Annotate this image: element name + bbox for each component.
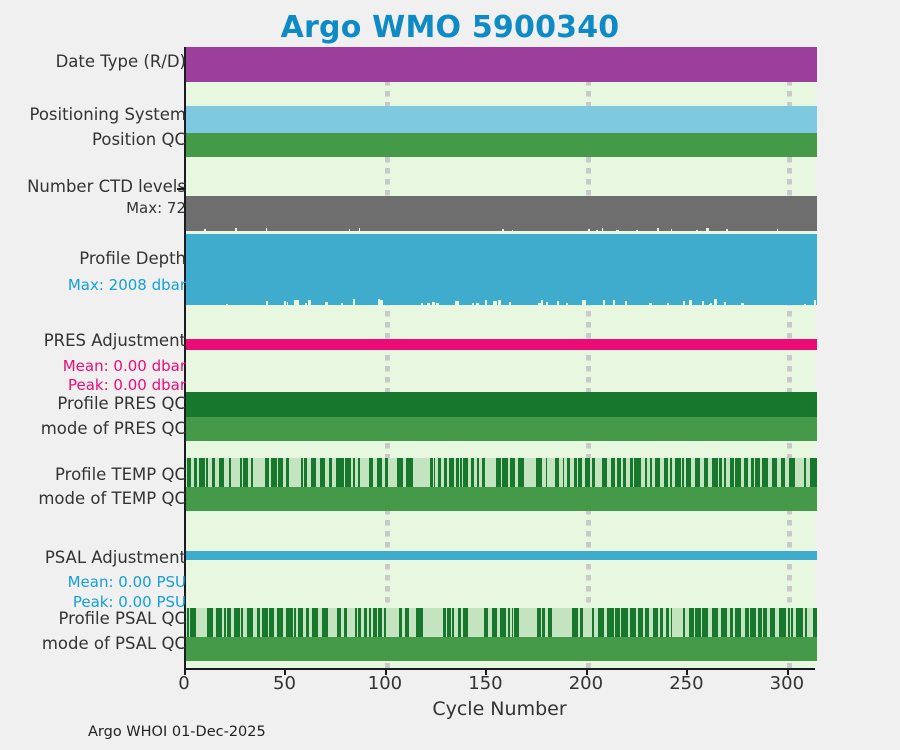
qc-stripe bbox=[227, 608, 231, 637]
qc-stripe bbox=[358, 608, 360, 637]
qc-stripe bbox=[438, 458, 442, 487]
qc-stripe bbox=[277, 608, 284, 637]
qc-stripe bbox=[502, 458, 508, 487]
qc-stripe bbox=[670, 458, 672, 487]
qc-stripe bbox=[190, 608, 196, 637]
depth-notch bbox=[582, 300, 586, 305]
qc-stripe bbox=[683, 608, 685, 637]
row-label-position-qc: Position QC bbox=[92, 130, 186, 149]
depth-notch bbox=[538, 303, 541, 305]
qc-stripe bbox=[345, 458, 351, 487]
qc-stripe bbox=[240, 458, 242, 487]
qc-stripe bbox=[542, 608, 545, 637]
ctd-notch bbox=[657, 228, 659, 231]
row-label-positioning-system: Positioning System bbox=[29, 105, 186, 124]
qc-stripe bbox=[730, 458, 734, 487]
band-psal-adjustment bbox=[186, 551, 817, 560]
qc-stripe bbox=[385, 458, 388, 487]
qc-stripe bbox=[243, 458, 247, 487]
qc-stripe bbox=[251, 458, 253, 487]
depth-notch bbox=[566, 303, 568, 305]
depth-notch bbox=[287, 302, 289, 305]
row-label-profile-pres-qc: Profile PRES QC bbox=[57, 394, 186, 413]
band-positioning-system bbox=[186, 106, 817, 133]
qc-stripe bbox=[496, 458, 501, 487]
qc-stripe bbox=[664, 458, 668, 487]
qc-stripe bbox=[598, 608, 605, 637]
ctd-notch bbox=[502, 229, 504, 231]
qc-stripe bbox=[813, 608, 817, 637]
qc-stripe bbox=[257, 608, 261, 637]
ctd-notch bbox=[706, 228, 709, 231]
qc-stripe bbox=[298, 608, 303, 637]
depth-notch bbox=[284, 301, 286, 305]
x-tick-label-50: 50 bbox=[273, 673, 296, 694]
qc-stripe bbox=[602, 458, 607, 487]
x-tick-label-150: 150 bbox=[468, 673, 502, 694]
qc-stripe bbox=[796, 608, 803, 637]
x-tick-mark-50 bbox=[284, 668, 286, 675]
row-label-pres-adjustment: PRES Adjustment bbox=[44, 331, 186, 350]
qc-stripe bbox=[355, 608, 357, 637]
ctd-notch bbox=[671, 229, 672, 231]
qc-stripe bbox=[207, 608, 213, 637]
qc-stripe bbox=[187, 608, 189, 637]
qc-stripe bbox=[449, 458, 453, 487]
x-tick-mark-200 bbox=[586, 668, 588, 675]
row-label-number-ctd-levels: Number CTD levels bbox=[27, 177, 186, 196]
depth-notch bbox=[294, 300, 296, 305]
depth-notch bbox=[546, 302, 548, 305]
qc-stripe bbox=[645, 458, 647, 487]
x-tick-mark-300 bbox=[787, 668, 789, 675]
qc-stripe bbox=[812, 458, 817, 487]
qc-stripe bbox=[630, 608, 636, 637]
qc-stripe bbox=[695, 458, 700, 487]
qc-stripe bbox=[650, 458, 653, 487]
band-date-type-r-d bbox=[186, 47, 817, 82]
row-sublabel-pres-adjustment: Mean: 0.00 dbar bbox=[63, 357, 186, 376]
row-label-profile-psal-qc: Profile PSAL QC bbox=[58, 609, 186, 628]
qc-stripe bbox=[463, 458, 468, 487]
page-title: Argo WMO 5900340 bbox=[0, 10, 900, 45]
qc-stripe bbox=[724, 458, 726, 487]
qc-stripe bbox=[634, 458, 641, 487]
ctd-notch bbox=[588, 229, 590, 231]
qc-stripe bbox=[675, 458, 681, 487]
x-tick-label-200: 200 bbox=[569, 673, 603, 694]
qc-stripe bbox=[416, 608, 423, 637]
qc-stripe bbox=[695, 608, 701, 637]
qc-stripe bbox=[735, 608, 740, 637]
qc-stripe bbox=[224, 608, 226, 637]
qc-stripe bbox=[615, 608, 620, 637]
qc-stripe bbox=[712, 608, 717, 637]
qc-stripe bbox=[580, 608, 583, 637]
y-axis-tick-ctd bbox=[177, 188, 185, 190]
depth-notch bbox=[432, 302, 435, 305]
qc-stripe bbox=[229, 458, 231, 487]
qc-stripe bbox=[645, 608, 649, 637]
row-label-date-type: Date Type (R/D) bbox=[56, 52, 186, 71]
qc-stripe bbox=[763, 608, 767, 637]
qc-stripe bbox=[572, 608, 578, 637]
ctd-notch bbox=[616, 230, 619, 231]
qc-stripe bbox=[187, 458, 191, 487]
qc-stripe bbox=[471, 458, 475, 487]
ctd-notch bbox=[602, 228, 603, 231]
qc-stripe bbox=[512, 608, 514, 637]
qc-stripe bbox=[745, 608, 749, 637]
qc-stripe bbox=[278, 458, 283, 487]
ctd-notch bbox=[636, 230, 638, 231]
qc-stripe bbox=[265, 458, 269, 487]
x-tick-label-300: 300 bbox=[770, 673, 804, 694]
depth-notch bbox=[741, 303, 744, 305]
qc-stripe bbox=[369, 608, 371, 637]
row-label-profile-depth: Profile Depth bbox=[79, 249, 186, 268]
x-tick-mark-0 bbox=[184, 668, 186, 675]
depth-notch bbox=[379, 300, 382, 305]
depth-notch bbox=[485, 300, 486, 305]
qc-stripe bbox=[286, 608, 293, 637]
depth-notch bbox=[493, 301, 495, 305]
row-label-mode-psal-qc: mode of PSAL QC bbox=[42, 634, 186, 653]
x-tick-label-250: 250 bbox=[669, 673, 703, 694]
ctd-notch bbox=[726, 229, 728, 231]
depth-notch bbox=[325, 302, 328, 305]
qc-stripe bbox=[704, 458, 708, 487]
qc-stripe bbox=[592, 458, 595, 487]
qc-stripe bbox=[443, 608, 446, 637]
ctd-notch bbox=[696, 230, 698, 231]
band-profile-temp-qc bbox=[186, 458, 817, 487]
qc-stripe bbox=[712, 458, 719, 487]
x-axis-line bbox=[184, 668, 815, 670]
qc-stripe bbox=[399, 608, 402, 637]
band-profile-psal-qc bbox=[186, 608, 817, 637]
qc-stripe bbox=[719, 458, 722, 487]
qc-stripe bbox=[518, 458, 524, 487]
ctd-notch bbox=[777, 229, 779, 231]
qc-stripe bbox=[548, 608, 553, 637]
depth-notch bbox=[603, 300, 605, 305]
row-sublabel-number-ctd-levels: Max: 72 bbox=[126, 199, 186, 218]
qc-stripe bbox=[301, 458, 303, 487]
qc-stripe bbox=[212, 458, 215, 487]
qc-stripe bbox=[789, 458, 795, 487]
qc-stripe bbox=[555, 458, 559, 487]
row-label-psal-adjustment: PSAL Adjustment bbox=[45, 548, 186, 567]
qc-stripe bbox=[770, 608, 775, 637]
qc-stripe bbox=[653, 608, 658, 637]
qc-stripe bbox=[781, 458, 785, 487]
row-label-mode-temp-qc: mode of TEMP QC bbox=[38, 489, 186, 508]
depth-notch bbox=[557, 301, 559, 305]
qc-stripe bbox=[804, 458, 806, 487]
qc-stripe bbox=[286, 458, 289, 487]
band-position-qc bbox=[186, 133, 817, 157]
band-number-ctd-levels bbox=[186, 196, 817, 231]
depth-notch bbox=[804, 304, 806, 305]
qc-stripe bbox=[744, 458, 747, 487]
qc-stripe bbox=[337, 608, 341, 637]
qc-stripe bbox=[755, 458, 760, 487]
qc-stripe bbox=[788, 608, 790, 637]
depth-notch bbox=[455, 301, 458, 305]
depth-notch bbox=[436, 303, 439, 305]
depth-notch bbox=[421, 303, 422, 305]
qc-stripe bbox=[306, 608, 309, 637]
x-tick-label-100: 100 bbox=[368, 673, 402, 694]
qc-stripe bbox=[611, 458, 615, 487]
row-label-profile-temp-qc: Profile TEMP QC bbox=[55, 465, 186, 484]
qc-stripe bbox=[194, 458, 197, 487]
qc-stripe bbox=[666, 608, 669, 637]
qc-stripe bbox=[563, 458, 565, 487]
qc-stripe bbox=[320, 458, 326, 487]
depth-notch bbox=[613, 300, 615, 305]
qc-stripe bbox=[592, 608, 594, 637]
qc-stripe bbox=[514, 608, 518, 637]
qc-stripe bbox=[492, 608, 498, 637]
qc-stripe bbox=[322, 608, 327, 637]
qc-stripe bbox=[574, 458, 577, 487]
qc-stripe bbox=[311, 458, 316, 487]
qc-stripe bbox=[578, 458, 582, 487]
x-tick-label-0: 0 bbox=[178, 673, 189, 694]
ctd-notch bbox=[596, 230, 598, 231]
qc-stripe bbox=[358, 458, 360, 487]
qc-stripe bbox=[750, 608, 756, 637]
ctd-notch bbox=[235, 228, 237, 231]
qc-stripe bbox=[682, 458, 684, 487]
qc-stripe bbox=[702, 608, 708, 637]
qc-stripe bbox=[206, 458, 208, 487]
band-pres-adjustment bbox=[186, 339, 817, 350]
qc-stripe bbox=[660, 608, 663, 637]
qc-stripe bbox=[772, 458, 777, 487]
qc-stripe bbox=[447, 608, 450, 637]
qc-stripe bbox=[537, 608, 541, 637]
qc-stripe bbox=[460, 458, 463, 487]
qc-stripe bbox=[477, 458, 479, 487]
ctd-notch bbox=[204, 229, 206, 231]
row-sublabel2-pres-adjustment: Peak: 0.00 dbar bbox=[68, 376, 186, 395]
depth-notch bbox=[476, 303, 479, 305]
row-sublabel-profile-depth: Max: 2008 dbar bbox=[68, 276, 186, 295]
qc-stripe bbox=[199, 458, 205, 487]
qc-stripe bbox=[500, 608, 505, 637]
qc-stripe bbox=[458, 608, 461, 637]
chart-plot-area bbox=[184, 47, 815, 668]
depth-notch bbox=[498, 300, 501, 305]
x-tick-mark-250 bbox=[686, 668, 688, 675]
qc-stripe bbox=[384, 608, 386, 637]
qc-stripe bbox=[456, 458, 459, 487]
depth-notch bbox=[509, 302, 511, 305]
depth-notch bbox=[296, 300, 299, 305]
qc-stripe bbox=[689, 608, 695, 637]
ctd-notch bbox=[359, 228, 360, 231]
qc-stripe bbox=[406, 458, 413, 487]
qc-stripe bbox=[751, 458, 754, 487]
qc-stripe bbox=[638, 608, 642, 637]
qc-stripe bbox=[373, 608, 378, 637]
qc-stripe bbox=[585, 458, 590, 487]
depth-notch bbox=[226, 304, 228, 305]
depth-notch bbox=[709, 304, 712, 305]
depth-notch bbox=[649, 303, 652, 305]
x-axis-label: Cycle Number bbox=[184, 698, 815, 720]
depth-notch bbox=[266, 301, 269, 305]
qc-stripe bbox=[546, 458, 548, 487]
qc-stripe bbox=[621, 608, 628, 637]
qc-stripe bbox=[758, 608, 762, 637]
qc-stripe bbox=[730, 608, 733, 637]
qc-stripe bbox=[630, 458, 634, 487]
depth-notch bbox=[724, 302, 726, 305]
qc-stripe bbox=[791, 608, 793, 637]
depth-notch bbox=[308, 300, 311, 305]
band-profile-depth bbox=[186, 234, 817, 305]
qc-stripe bbox=[623, 458, 626, 487]
depth-notch bbox=[667, 303, 669, 305]
depth-notch bbox=[305, 303, 307, 305]
ctd-notch bbox=[512, 230, 513, 231]
row-sublabel-psal-adjustment: Mean: 0.00 PSU bbox=[68, 573, 186, 592]
band-profile-pres-qc bbox=[186, 392, 817, 417]
qc-stripe bbox=[463, 608, 468, 637]
qc-stripe bbox=[378, 608, 381, 637]
qc-stripe bbox=[805, 608, 807, 637]
band-mode-of-psal-qc bbox=[186, 637, 817, 661]
qc-stripe bbox=[735, 458, 741, 487]
row-label-mode-pres-qc: mode of PRES QC bbox=[41, 419, 186, 438]
qc-stripe bbox=[405, 608, 410, 637]
qc-stripe bbox=[241, 608, 243, 637]
depth-notch bbox=[814, 300, 816, 305]
band-mode-of-temp-qc bbox=[186, 487, 817, 511]
x-tick-mark-150 bbox=[485, 668, 487, 675]
ctd-notch bbox=[266, 228, 267, 231]
qc-stripe bbox=[762, 458, 767, 487]
qc-stripe bbox=[219, 458, 224, 487]
depth-notch bbox=[427, 303, 430, 305]
depth-notch bbox=[714, 299, 717, 305]
qc-stripe bbox=[434, 458, 436, 487]
depth-notch bbox=[472, 303, 474, 305]
depth-notch bbox=[625, 301, 627, 305]
qc-stripe bbox=[247, 608, 253, 637]
depth-notch bbox=[353, 299, 355, 305]
qc-stripe bbox=[364, 608, 367, 637]
qc-stripe bbox=[430, 458, 433, 487]
depth-notch bbox=[689, 300, 692, 305]
ctd-notch bbox=[349, 229, 350, 231]
qc-stripe bbox=[304, 458, 307, 487]
qc-stripe bbox=[216, 608, 222, 637]
qc-stripe bbox=[617, 458, 621, 487]
qc-stripe bbox=[344, 608, 346, 637]
qc-stripe bbox=[269, 608, 273, 637]
footer-credit: Argo WHOI 01-Dec-2025 bbox=[88, 724, 266, 740]
qc-stripe bbox=[607, 608, 614, 637]
qc-stripe bbox=[567, 458, 571, 487]
qc-stripe bbox=[536, 458, 542, 487]
qc-stripe bbox=[810, 458, 812, 487]
depth-notch bbox=[683, 301, 686, 305]
band-mode-of-pres-qc bbox=[186, 417, 817, 441]
qc-stripe bbox=[452, 608, 454, 637]
qc-stripe bbox=[312, 608, 319, 637]
qc-stripe bbox=[686, 458, 691, 487]
x-tick-mark-100 bbox=[385, 668, 387, 675]
qc-stripe bbox=[234, 608, 240, 637]
depth-notch bbox=[341, 303, 342, 305]
qc-stripe bbox=[336, 458, 338, 487]
qc-stripe bbox=[294, 608, 296, 637]
qc-stripe bbox=[271, 458, 277, 487]
qc-stripe bbox=[338, 458, 344, 487]
qc-stripe bbox=[262, 608, 268, 637]
qc-stripe bbox=[482, 458, 485, 487]
qc-stripe bbox=[721, 608, 727, 637]
qc-stripe bbox=[671, 608, 673, 637]
qc-stripe bbox=[397, 458, 403, 487]
qc-stripe bbox=[510, 458, 515, 487]
depth-notch bbox=[702, 301, 704, 305]
qc-stripe bbox=[369, 458, 373, 487]
qc-stripe bbox=[779, 608, 786, 637]
qc-stripe bbox=[329, 458, 332, 487]
qc-stripe bbox=[353, 458, 355, 487]
qc-stripe bbox=[444, 458, 447, 487]
qc-stripe bbox=[484, 608, 489, 637]
qc-stripe bbox=[377, 458, 382, 487]
qc-stripe bbox=[508, 608, 510, 637]
qc-stripe bbox=[655, 458, 660, 487]
